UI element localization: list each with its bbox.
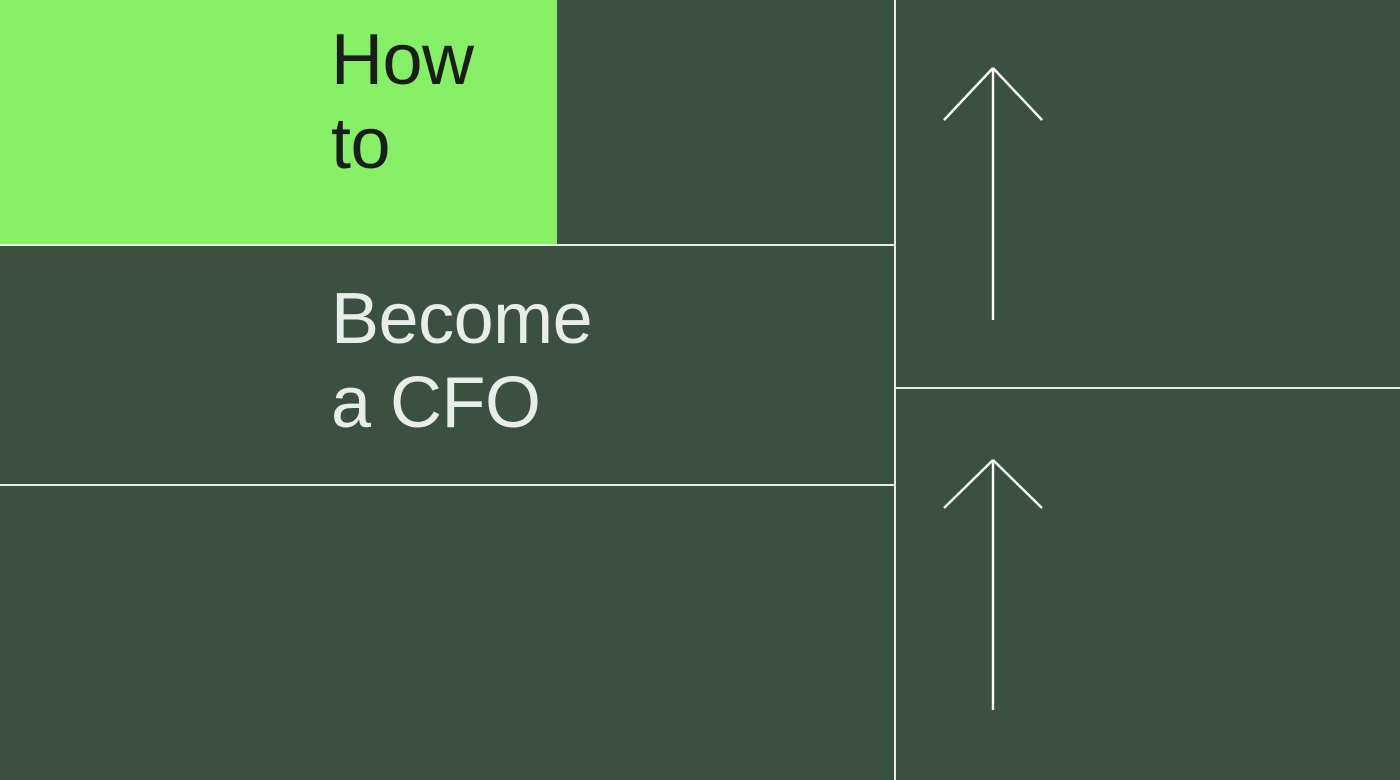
rule-right-middle [895, 387, 1400, 389]
rule-left-lower [0, 484, 895, 486]
up-arrow-bottom-icon [895, 392, 1400, 780]
poster-canvas: How to Become a CFO [0, 0, 1400, 780]
headline-line-become: Become [331, 283, 592, 355]
rule-left-upper [0, 244, 895, 246]
up-arrow-top-icon [895, 0, 1400, 387]
headline-line-to: to [331, 108, 390, 180]
headline-line-a-cfo: a CFO [331, 367, 541, 439]
headline-line-how: How [331, 24, 474, 96]
